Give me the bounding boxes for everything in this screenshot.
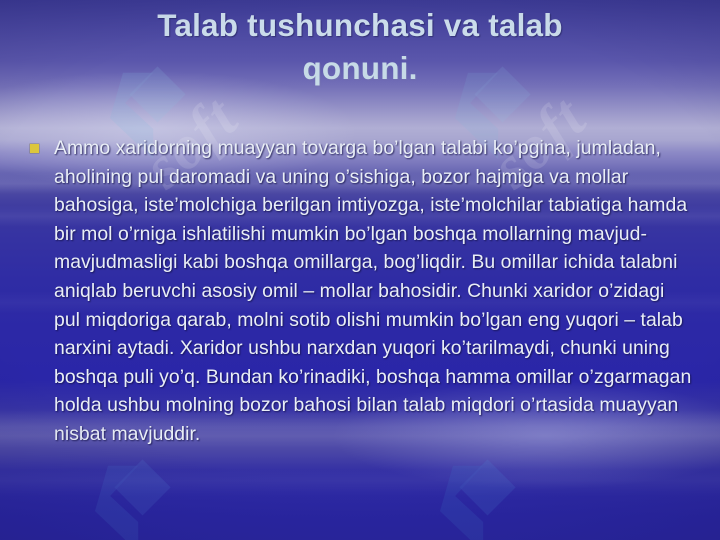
presentation-slide: soft soft Talab tushunchasi va talab qon…: [0, 0, 720, 540]
slide-vignette: [0, 0, 720, 540]
